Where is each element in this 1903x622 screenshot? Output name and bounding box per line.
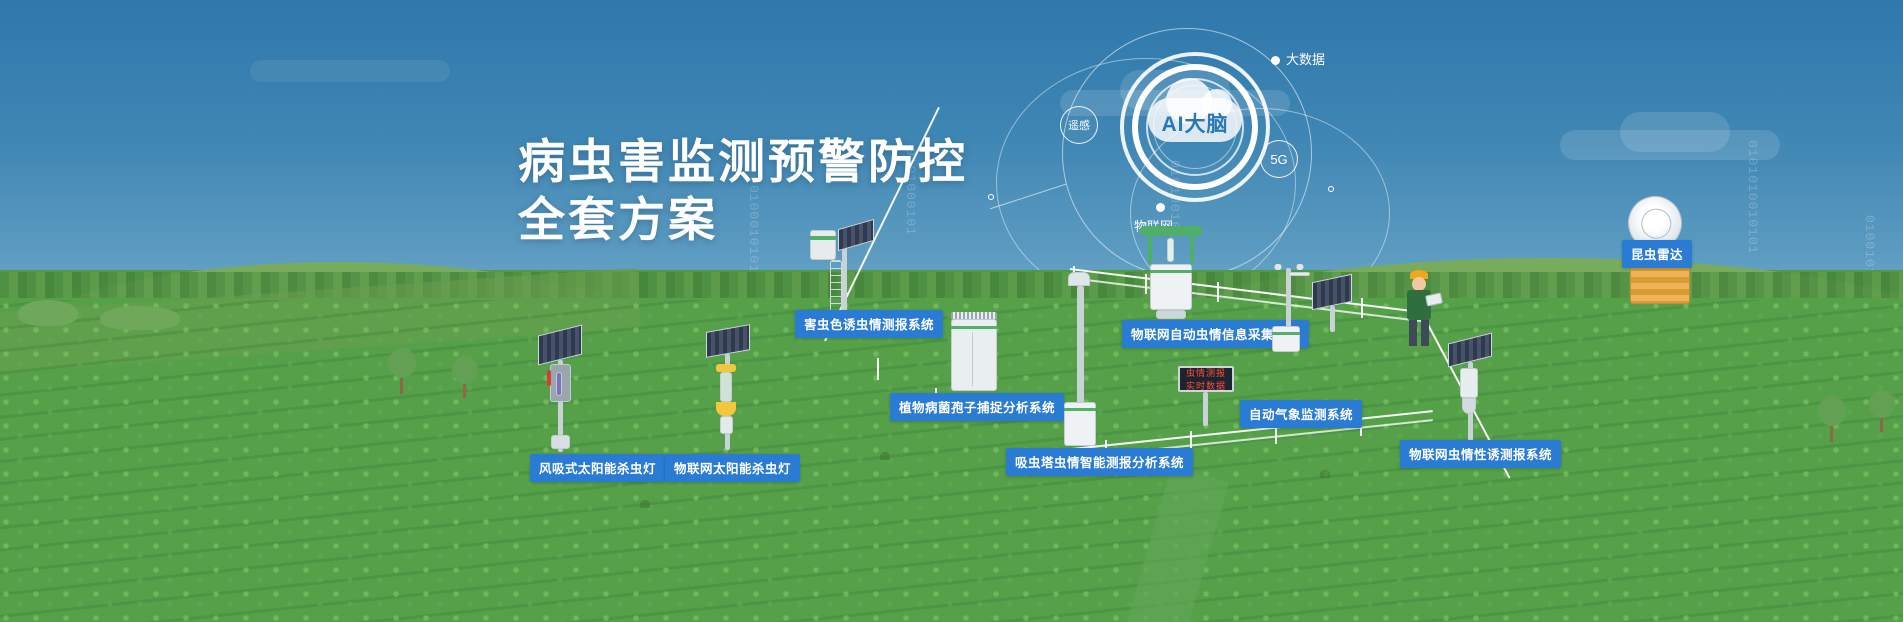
tree-top-4: [1869, 390, 1895, 418]
device-auto-weather-solar-panel: [1312, 278, 1362, 328]
label-plant-spore-capture-analyzer[interactable]: 植物病菌孢子捕捉分析系统: [890, 393, 1064, 421]
device-iot-pest-pheromone-report[interactable]: [1442, 338, 1512, 448]
trap-green-strip: [810, 236, 836, 240]
tree-top-2: [452, 356, 478, 384]
device-iot-auto-pest-info-collector[interactable]: [1134, 226, 1214, 322]
lamp-tube: [556, 372, 562, 396]
analyzer-cabinet: [951, 319, 997, 391]
node-big-data-label: 大数据: [1286, 49, 1325, 68]
pheromone-collector: [1462, 398, 1476, 414]
node-remote-sensing[interactable]: 遥感: [1060, 106, 1098, 144]
anemometer-cups: [1274, 264, 1304, 270]
lamp-collector: [720, 416, 733, 434]
analyzer-door-line: [972, 332, 973, 386]
suction-tower-green-strip: [1064, 408, 1096, 411]
collector-canopy: [1140, 226, 1202, 236]
trap-solar-panel: [838, 219, 874, 251]
lamp-red-accent: [547, 370, 551, 386]
radar-dish-inner: [1637, 205, 1675, 243]
label-auto-weather-monitor-system[interactable]: 自动气象监测系统: [1240, 400, 1362, 428]
worker-leg-left: [1409, 320, 1417, 346]
fence-post-3: [1217, 282, 1219, 302]
fence-top-rail-2: [1070, 277, 1428, 323]
lamp-hood: [716, 364, 736, 372]
cloud-icon-4: [1620, 112, 1730, 152]
analyzer-green-strip: [951, 326, 997, 329]
led-board-pole: [1203, 392, 1208, 426]
collector-green-strip: [1150, 270, 1192, 273]
grass-tuft-3: [640, 500, 650, 508]
led-display-board[interactable]: 虫情测报 实时数据: [1178, 366, 1234, 392]
tablet-icon[interactable]: [1425, 292, 1443, 306]
tree-top-1: [388, 348, 416, 378]
node-5g-label: 5G: [1270, 152, 1287, 167]
worker-head: [1412, 277, 1426, 291]
suction-tower-head: [1068, 272, 1090, 286]
lamp-tube: [720, 372, 732, 402]
cloud-icon-5: [250, 60, 450, 82]
suction-tower-pole: [1077, 286, 1084, 404]
grass-tuft-2: [1320, 470, 1330, 478]
field-worker[interactable]: [1392, 270, 1452, 350]
weather-shelter: [1272, 326, 1300, 352]
label-insect-radar[interactable]: 昆虫雷达: [1622, 240, 1692, 268]
pheromone-trap-body: [1460, 368, 1478, 398]
device-plant-spore-capture-analyzer[interactable]: [948, 312, 1008, 394]
label-iot-pest-pheromone-report[interactable]: 物联网虫情性诱测报系统: [1400, 440, 1561, 468]
collector-frame-left: [1148, 236, 1152, 264]
tree-top-3: [1818, 396, 1846, 426]
trap-box: [810, 230, 836, 260]
lamp-funnel: [716, 402, 736, 416]
device-pest-color-trap-report-system[interactable]: [808, 222, 888, 312]
lamp-collector: [551, 435, 570, 449]
node-big-data-dot: [1271, 56, 1280, 65]
wind-vane: [1288, 272, 1310, 276]
label-iot-solar-insect-lamp[interactable]: 物联网太阳能杀虫灯: [665, 454, 800, 482]
hero-banner: 01000101011010 0101000101 010100101 0101…: [0, 0, 1903, 622]
page-title-line-2: 全套方案: [518, 191, 968, 249]
weather-solar-panel: [1312, 274, 1352, 311]
fence-top: [1070, 268, 1428, 314]
led-line-1: 虫情测报: [1186, 366, 1226, 379]
led-line-2: 实时数据: [1186, 379, 1226, 392]
weather-solar-pole: [1330, 306, 1335, 332]
device-wind-suction-solar-insect-lamp[interactable]: [534, 330, 604, 450]
worker-leg-right: [1421, 320, 1429, 346]
bush-1: [18, 300, 78, 326]
ai-brain-label: AI大脑: [1148, 108, 1242, 138]
device-iot-solar-insect-lamp[interactable]: [700, 328, 770, 448]
grass-tuft-1: [880, 452, 890, 460]
node-iot-dot: [1156, 203, 1165, 212]
ai-brain-diagram: AI大脑 遥感 5G 大数据 物联网: [1090, 38, 1430, 238]
label-wind-suction-solar-insect-lamp[interactable]: 风吸式太阳能杀虫灯: [530, 454, 665, 482]
label-suction-tower-pest-analyzer[interactable]: 吸虫塔虫情智能测报分析系统: [1006, 448, 1193, 476]
fence-post-13: [877, 358, 879, 380]
device-suction-tower-pest-analyzer[interactable]: [1058, 272, 1108, 452]
solar-panel: [706, 324, 750, 358]
collector-lamp: [1167, 238, 1174, 262]
label-pest-color-trap-report-system[interactable]: 害虫色诱虫情测报系统: [795, 310, 943, 338]
node-remote-sensing-label: 遥感: [1068, 117, 1090, 133]
binary-strip-4: 0101010010101: [1745, 140, 1760, 254]
collector-base: [1156, 310, 1186, 319]
collector-frame-right: [1190, 236, 1194, 264]
weather-green-strip: [1272, 332, 1300, 335]
endpoint-dot-right: [1328, 186, 1334, 192]
analyzer-top: [951, 312, 997, 319]
node-5g[interactable]: 5G: [1260, 140, 1298, 178]
endpoint-dot-left: [988, 194, 994, 200]
bush-2: [100, 306, 180, 330]
